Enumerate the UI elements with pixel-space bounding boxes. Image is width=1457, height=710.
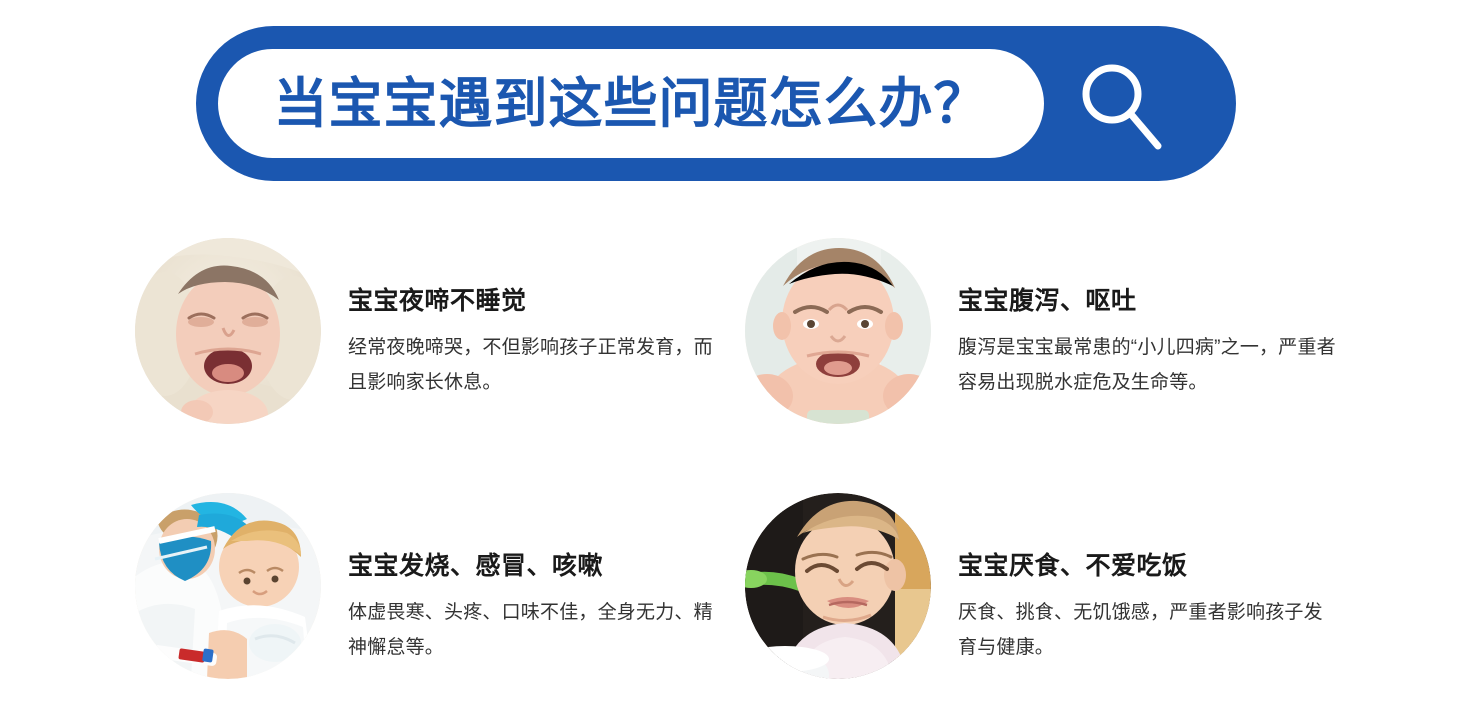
card-description: 经常夜晚啼哭，不但影响孩子正常发育，而且影响家长休息。 bbox=[348, 330, 728, 400]
banner-inner-field: 当宝宝遇到这些问题怎么办？ bbox=[218, 49, 1044, 158]
card-title: 宝宝厌食、不爱吃饭 bbox=[958, 551, 1338, 581]
nurse-vaccinating-baby-photo bbox=[135, 493, 321, 679]
card-text-block: 宝宝腹泻、呕吐 腹泻是宝宝最常患的“小儿四病”之一，严重者容易出现脱水症危及生命… bbox=[958, 238, 1338, 400]
card-description: 腹泻是宝宝最常患的“小儿四病”之一，严重者容易出现脱水症危及生命等。 bbox=[958, 330, 1338, 400]
promo-page: 当宝宝遇到这些问题怎么办？ bbox=[0, 0, 1457, 710]
card-text-block: 宝宝发烧、感冒、咳嗽 体虚畏寒、头疼、口味不佳，全身无力、精神懈怠等。 bbox=[348, 493, 728, 665]
symptom-card[interactable]: 宝宝厌食、不爱吃饭 厌食、挑食、无饥饿感，严重者影响孩子发育与健康。 bbox=[745, 493, 1345, 679]
page-title: 当宝宝遇到这些问题怎么办？ bbox=[274, 77, 989, 131]
crying-baby-photo bbox=[745, 238, 931, 424]
symptom-card-grid: 宝宝夜啼不睡觉 经常夜晚啼哭，不但影响孩子正常发育，而且影响家长休息。 bbox=[0, 238, 1457, 708]
card-text-block: 宝宝厌食、不爱吃饭 厌食、挑食、无饥饿感，严重者影响孩子发育与健康。 bbox=[958, 493, 1338, 665]
card-description: 体虚畏寒、头疼、口味不佳，全身无力、精神懈怠等。 bbox=[348, 595, 728, 665]
card-title: 宝宝腹泻、呕吐 bbox=[958, 286, 1338, 316]
header-search-banner: 当宝宝遇到这些问题怎么办？ bbox=[196, 26, 1236, 181]
search-icon[interactable] bbox=[1068, 56, 1172, 156]
crying-newborn-photo bbox=[135, 238, 321, 424]
card-title: 宝宝夜啼不睡觉 bbox=[348, 286, 728, 316]
card-text-block: 宝宝夜啼不睡觉 经常夜晚啼哭，不但影响孩子正常发育，而且影响家长休息。 bbox=[348, 238, 728, 400]
symptom-card[interactable]: 宝宝腹泻、呕吐 腹泻是宝宝最常患的“小儿四病”之一，严重者容易出现脱水症危及生命… bbox=[745, 238, 1345, 424]
card-title: 宝宝发烧、感冒、咳嗽 bbox=[348, 551, 728, 581]
symptom-card[interactable]: 宝宝夜啼不睡觉 经常夜晚啼哭，不但影响孩子正常发育，而且影响家长休息。 bbox=[135, 238, 735, 424]
card-description: 厌食、挑食、无饥饿感，严重者影响孩子发育与健康。 bbox=[958, 595, 1338, 665]
symptom-card[interactable]: 宝宝发烧、感冒、咳嗽 体虚畏寒、头疼、口味不佳，全身无力、精神懈怠等。 bbox=[135, 493, 735, 679]
toddler-refusing-food-photo bbox=[745, 493, 931, 679]
